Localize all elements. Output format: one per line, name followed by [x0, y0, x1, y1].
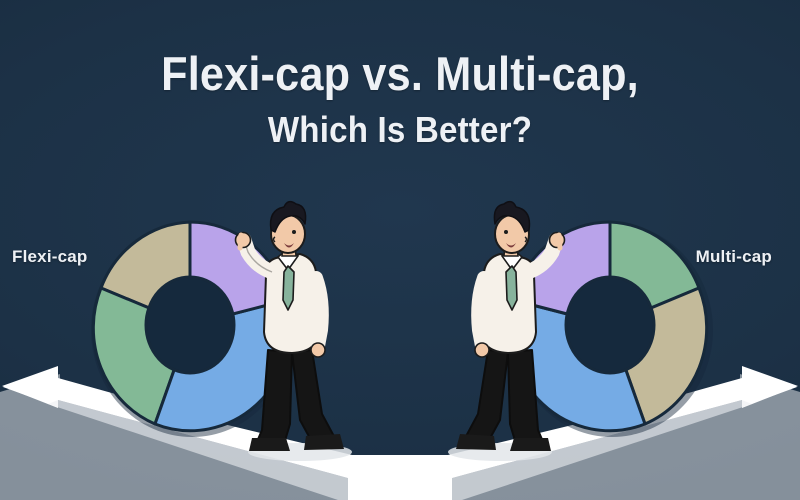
label-multi-cap: Multi-cap: [696, 247, 772, 267]
donut-left-hole: [146, 277, 234, 373]
scene-illustration: [0, 0, 800, 500]
figure-right-shoe-front: [456, 434, 496, 450]
figure-left-hand-down: [311, 343, 325, 357]
infographic-canvas: Flexi-cap vs. Multi-cap, Which Is Better…: [0, 0, 800, 500]
figure-left-shoe-front: [304, 434, 344, 450]
flexi-cap-donut[interactable]: [91, 222, 293, 437]
figure-left-eye: [292, 230, 296, 234]
figure-right-hand-down: [475, 343, 489, 357]
figure-right-leg-front: [464, 350, 508, 442]
figure-left-leg-front: [292, 350, 336, 442]
figure-left-arm-down: [316, 278, 322, 346]
figure-right-arm-down: [478, 278, 484, 346]
figure-left-shoe-back: [249, 438, 290, 451]
donut-right-hole: [566, 277, 654, 373]
multi-cap-donut[interactable]: [510, 222, 713, 437]
figure-right-shoe-back: [510, 438, 551, 451]
figure-right-eye: [504, 230, 508, 234]
label-flexi-cap: Flexi-cap: [12, 247, 88, 267]
figure-right-finger: [559, 235, 560, 248]
figure-left-finger: [240, 235, 241, 248]
